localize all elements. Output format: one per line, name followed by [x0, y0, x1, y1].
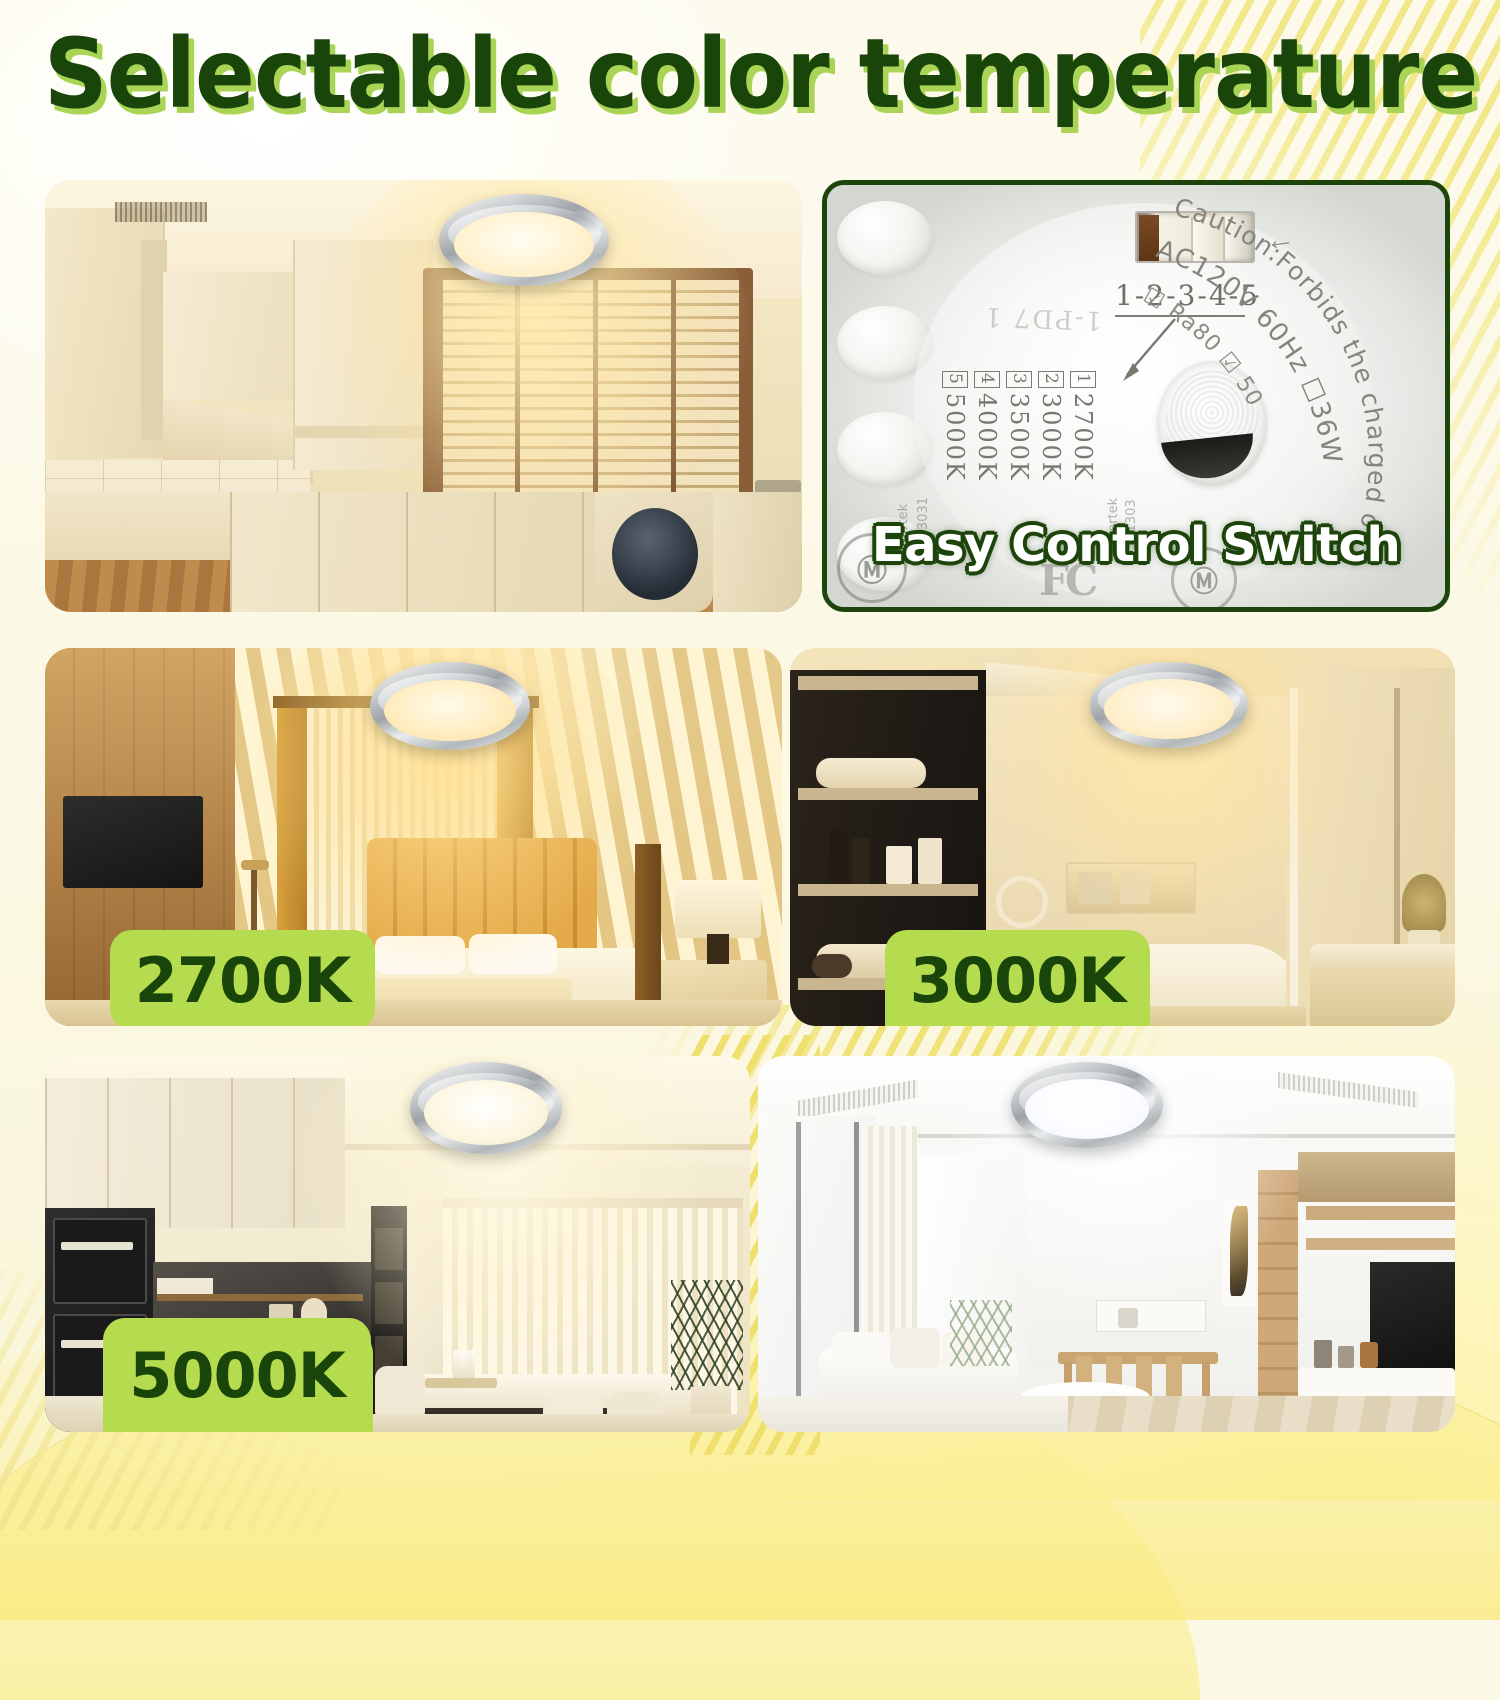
kitchen-right-cabinet: [713, 492, 802, 612]
kitchen-floor-left: [45, 560, 230, 612]
ceiling-lamp-living: [1011, 1062, 1163, 1148]
easy-control-switch-caption: Easy Control Switch: [827, 517, 1445, 573]
ceiling-lamp-kitchen: [439, 194, 609, 286]
svg-text:AC120V 60Hz ☐36W: AC120V 60Hz ☐36W: [1152, 235, 1347, 467]
ceiling-lamp-bedroom: [370, 662, 530, 750]
kitchen-washer-door: [612, 508, 698, 600]
ceiling-lamp-bathroom: [1090, 662, 1248, 748]
photo-panel-bedroom-2700k: 2700K: [45, 648, 782, 1026]
badge-3000k: 3000K: [885, 930, 1150, 1026]
photo-panel-living-5000k: 5000K: [758, 1056, 1455, 1432]
cct-option-2: 23000K: [1037, 371, 1065, 482]
ceiling-lamp-dining: [410, 1062, 562, 1154]
badge-2700k: 2700K: [110, 930, 375, 1026]
molded-code-text: 1-PD7 1: [983, 301, 1103, 335]
kitchen-left-wall: [45, 492, 230, 562]
photo-panel-bathroom-3000k: 3000K: [790, 648, 1455, 1026]
cct-option-4: 44000K: [973, 371, 1001, 482]
page-title: Selectable color temperature: [44, 24, 1360, 125]
cct-option-list: 12700K 23000K 33500K 44000K 55000K: [941, 371, 1097, 482]
kitchen-base-cabinet-lines: [230, 492, 598, 612]
cct-option-5: 55000K: [941, 371, 969, 482]
cct-option-1: 12700K: [1069, 371, 1097, 482]
cct-option-3: 33500K: [1005, 371, 1033, 482]
easy-control-switch-panel: 1-PD7 1 ← 1-2-3-4-5 12700K 23000K 33500K…: [822, 180, 1450, 612]
